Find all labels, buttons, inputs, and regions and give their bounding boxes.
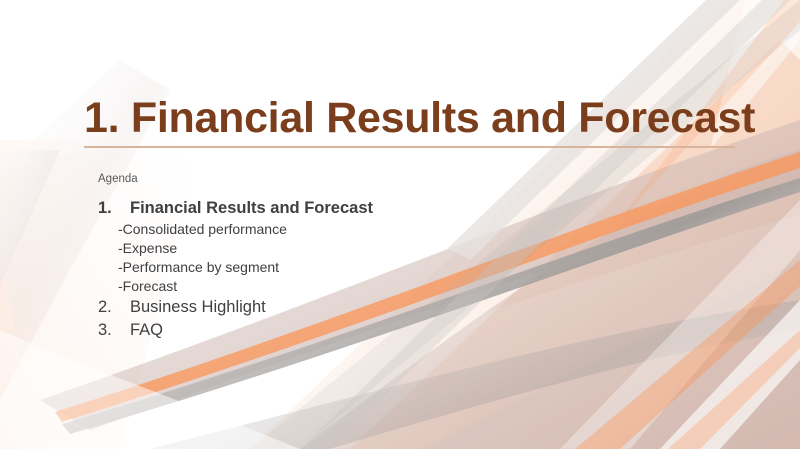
agenda-list: 1. Financial Results and Forecast -Conso… <box>98 197 558 343</box>
list-item[interactable]: -Performance by segment <box>98 258 558 277</box>
list-item[interactable]: -Forecast <box>98 277 558 296</box>
list-item[interactable]: -Consolidated performance <box>98 220 558 239</box>
slide-content: 1. Financial Results and Forecast Agenda… <box>0 0 800 449</box>
list-item[interactable]: 2. Business Highlight <box>98 296 558 319</box>
agenda-label: Agenda <box>98 172 558 188</box>
agenda-entry-1: 1. Financial Results and Forecast -Conso… <box>98 197 558 296</box>
agenda-item-label: Business Highlight <box>130 296 266 319</box>
title-block: 1. Financial Results and Forecast <box>84 96 744 148</box>
agenda-item-label: FAQ <box>130 319 163 342</box>
agenda-entry-2: 2. Business Highlight <box>98 296 558 319</box>
agenda-block: Agenda 1. Financial Results and Forecast… <box>98 172 558 342</box>
agenda-item-number: 2. <box>98 296 130 319</box>
agenda-sublist-1: -Consolidated performance -Expense -Perf… <box>98 220 558 296</box>
presentation-slide: 1. Financial Results and Forecast Agenda… <box>0 0 800 449</box>
list-item[interactable]: 1. Financial Results and Forecast <box>98 197 558 220</box>
page-title: 1. Financial Results and Forecast <box>84 96 744 141</box>
agenda-item-number: 3. <box>98 319 130 342</box>
agenda-item-number: 1. <box>98 197 130 220</box>
title-underline-rule <box>84 146 735 148</box>
list-item[interactable]: -Expense <box>98 239 558 258</box>
list-item[interactable]: 3. FAQ <box>98 319 558 342</box>
agenda-item-label: Financial Results and Forecast <box>130 197 373 220</box>
agenda-entry-3: 3. FAQ <box>98 319 558 342</box>
